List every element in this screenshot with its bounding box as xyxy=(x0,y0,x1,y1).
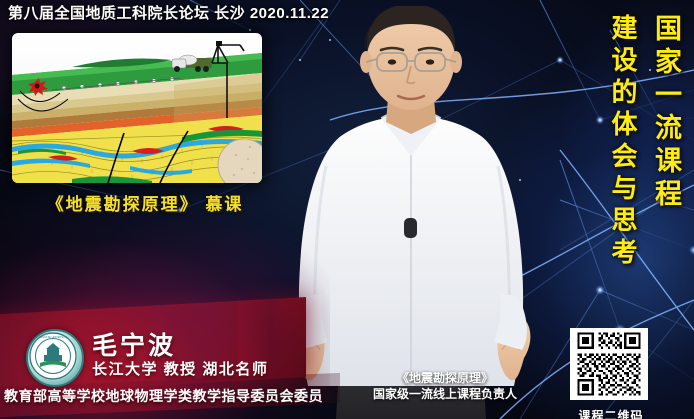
vertical-title-sub: 建设的体会与思考 xyxy=(605,14,642,270)
course-caption: 《地震勘探原理》 国家级一流线上课程负责人 xyxy=(330,370,560,402)
figure-caption: 《地震勘探原理》 慕课 xyxy=(20,190,270,215)
course-caption-line2: 国家级一流线上课程负责人 xyxy=(330,386,560,402)
svg-text:YANGTZE UNIVERSITY: YANGTZE UNIVERSITY xyxy=(39,335,68,339)
presenter-name: 毛宁波 xyxy=(92,326,176,362)
presenter-affiliation: 教育部高等学校地球物理学类教学指导委员会委员 xyxy=(4,386,323,406)
course-qr-code[interactable] xyxy=(570,328,648,400)
slide-stage: 第八届全国地质工科院长论坛 长沙 2020.11.22 xyxy=(0,0,694,419)
vertical-title-main: 国家一流课程 xyxy=(647,14,686,212)
qr-code-block[interactable]: 课程二维码 xyxy=(570,328,652,419)
qr-code-label: 课程二维码 xyxy=(570,407,652,419)
presenter-role: 长江大学 教授 湖北名师 xyxy=(92,358,268,379)
page-title: 第八届全国地质工科院长论坛 长沙 2020.11.22 xyxy=(8,2,329,23)
yangtze-university-logo: YANGTZE UNIVERSITY xyxy=(26,329,84,387)
course-caption-line1: 《地震勘探原理》 xyxy=(330,370,560,386)
seismic-cross-section-figure xyxy=(12,33,262,183)
